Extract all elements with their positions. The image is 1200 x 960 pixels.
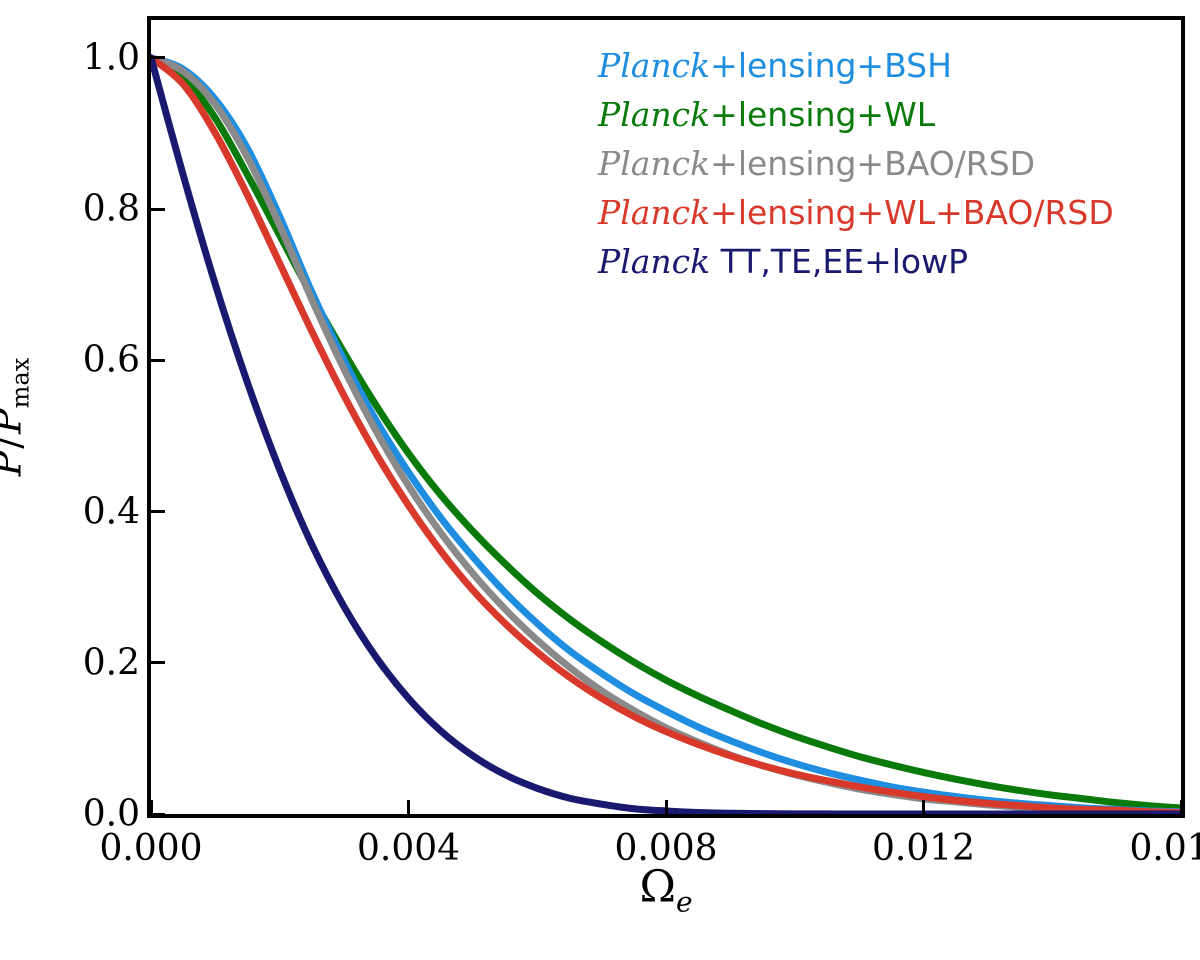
x-axis-title-omega: Ω: [639, 862, 675, 913]
legend-item-3-prefix: Planck: [598, 144, 710, 183]
legend-item-1-prefix: Planck: [598, 46, 710, 85]
legend-item-5-rest: TT,TE,EE+lowP: [710, 242, 968, 281]
legend-item-5: Planck TT,TE,EE+lowP: [598, 244, 1114, 281]
x-tick-0.000: [150, 800, 153, 818]
legend-item-4-prefix: Planck: [598, 193, 710, 232]
y-axis-title-sub: max: [7, 358, 35, 409]
y-tick-0.2: [147, 661, 165, 664]
legend-item-5-prefix: Planck: [598, 242, 710, 281]
x-tick-label-0.016: 0.016: [1129, 828, 1200, 869]
x-tick-0.004: [407, 800, 410, 818]
x-tick-label-0.004: 0.004: [357, 828, 460, 869]
legend-item-2-rest: +lensing+WL: [710, 95, 935, 134]
y-tick-label-0.8: 0.8: [83, 189, 140, 230]
legend: Planck+lensing+BSHPlanck+lensing+WLPlanc…: [598, 48, 1114, 281]
y-axis-title-p: P: [0, 451, 29, 477]
y-tick-0.8: [147, 208, 165, 211]
legend-item-3-rest: +lensing+BAO/RSD: [710, 144, 1035, 183]
legend-item-2: Planck+lensing+WL: [598, 97, 1114, 134]
x-tick-label-0.000: 0.000: [99, 828, 202, 869]
y-tick-0.6: [147, 359, 165, 362]
y-tick-label-0.6: 0.6: [83, 340, 140, 381]
legend-item-4: Planck+lensing+WL+BAO/RSD: [598, 195, 1114, 232]
y-axis-title-slash: /: [0, 434, 29, 451]
y-tick-1.0: [147, 56, 165, 59]
y-axis-title-p2: P: [0, 408, 29, 434]
x-tick-0.016: [1180, 800, 1183, 818]
x-axis-title-sub: e: [676, 885, 693, 918]
legend-item-1: Planck+lensing+BSH: [598, 48, 1114, 85]
y-tick-label-0.2: 0.2: [83, 642, 140, 683]
legend-item-4-rest: +lensing+WL+BAO/RSD: [710, 193, 1114, 232]
x-tick-label-0.012: 0.012: [872, 828, 975, 869]
x-tick-0.012: [922, 800, 925, 818]
y-tick-label-1.0: 1.0: [83, 37, 140, 78]
legend-item-2-prefix: Planck: [598, 95, 710, 134]
y-axis-title: P/Pmax: [0, 358, 35, 477]
y-tick-0.4: [147, 510, 165, 513]
x-axis-title: Ωe: [639, 862, 692, 919]
legend-item-3: Planck+lensing+BAO/RSD: [598, 146, 1114, 183]
chart-root: 0.00.20.40.60.81.0 0.0000.0040.0080.0120…: [0, 0, 1200, 960]
legend-item-1-rest: +lensing+BSH: [710, 46, 952, 85]
y-tick-label-0.4: 0.4: [83, 491, 140, 532]
x-tick-0.008: [665, 800, 668, 818]
